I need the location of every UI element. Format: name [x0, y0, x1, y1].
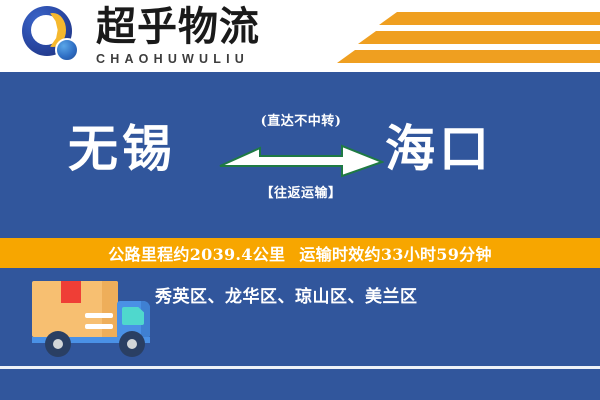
truck-cargo-tape [61, 281, 81, 303]
truck-cargo-stripe-top [85, 313, 113, 318]
brand-name-cn: 超乎物流 [96, 4, 306, 50]
route-panel: 无锡 (直达不中转) 【往返运输】 海口 [0, 72, 600, 238]
truck-wheel-rear [45, 331, 71, 357]
header-stripe-3 [337, 50, 600, 63]
route-info-bar: 公路里程约2039.4公里 运输时效约33小时59分钟 [0, 238, 600, 268]
double-headed-arrow-icon [218, 136, 384, 178]
delivery-truck-icon [28, 279, 168, 359]
brand-wordmark: 超乎物流 CHAOHUWULIU [96, 4, 306, 67]
truck-window [122, 307, 144, 325]
served-districts-label: 秀英区、龙华区、琼山区、美兰区 [155, 282, 418, 307]
duration-text: 运输时效约33小时59分钟 [299, 241, 491, 265]
truck-wheel-hub [53, 339, 63, 349]
distance-text: 公路里程约2039.4公里 [108, 241, 285, 265]
round-trip-note: 【往返运输】 [218, 182, 384, 201]
header-stripe-1 [379, 12, 600, 25]
header-stripe-2 [358, 31, 600, 44]
route-arrow-group: (直达不中转) 【往返运输】 [218, 110, 384, 208]
truck-wheel-hub [127, 339, 137, 349]
truck-wheel-front [119, 331, 145, 357]
direct-shipping-note: (直达不中转) [218, 110, 384, 129]
truck-cargo-stripe-bottom [85, 324, 113, 329]
logo-accent-circle [55, 38, 79, 62]
origin-city-label: 无锡 [68, 118, 176, 180]
brand-name-en: CHAOHUWULIU [96, 51, 306, 67]
bottom-divider [0, 366, 600, 369]
destination-city-label: 海口 [385, 118, 493, 180]
banner-header: 超乎物流 CHAOHUWULIU [0, 0, 600, 72]
logistics-route-banner: 超乎物流 CHAOHUWULIU 无锡 (直达不中转) 【往返运输】 海口 公路… [0, 0, 600, 400]
company-logo-circle-icon [22, 6, 84, 68]
